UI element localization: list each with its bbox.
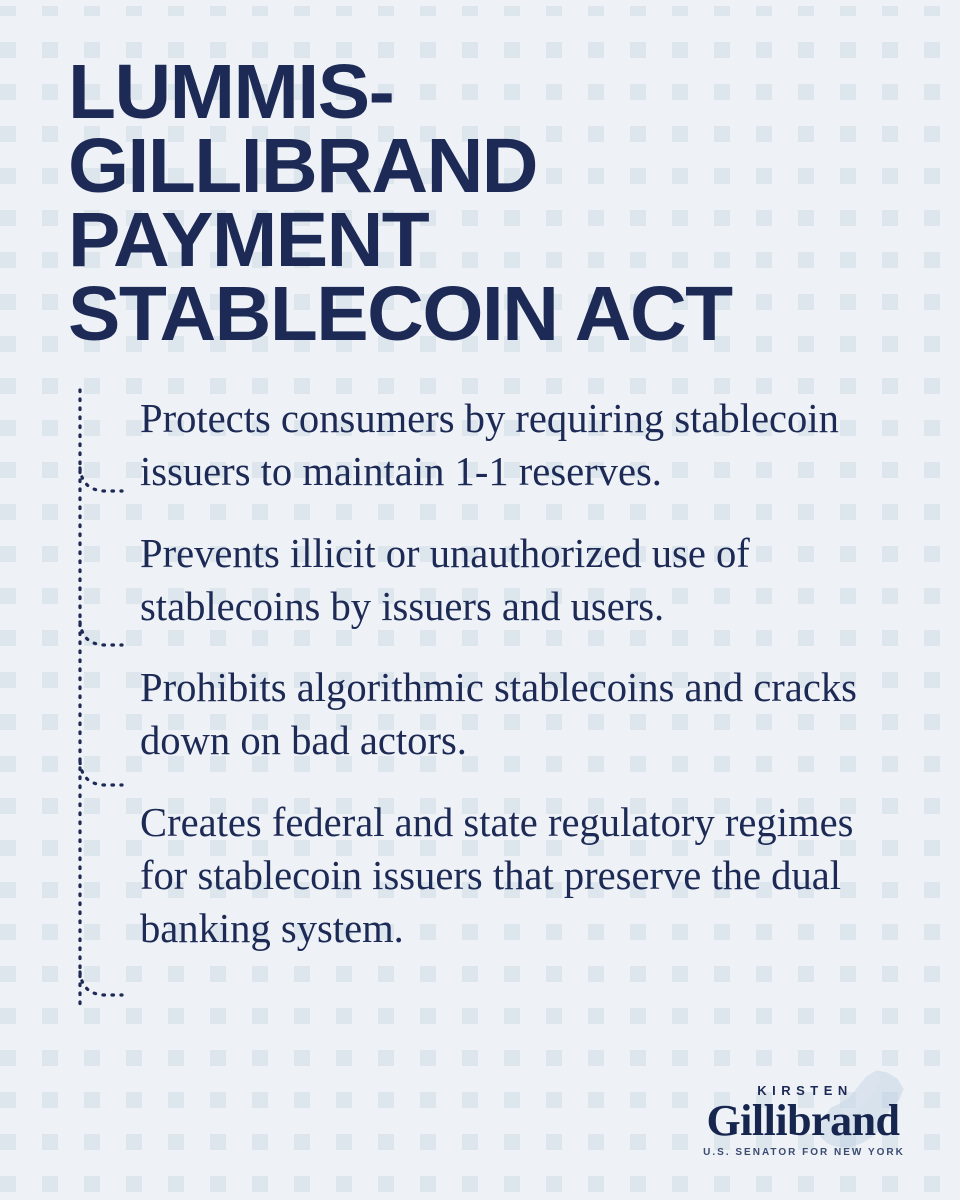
- bullet-text: Protects consumers by requiring stableco…: [140, 392, 904, 499]
- logo-text-group: KIRSTEN Gillibrand U.S. SENATOR FOR NEW …: [688, 1074, 918, 1158]
- logo-name: Gillibrand: [688, 1099, 918, 1143]
- list-item: Prevents illicit or unauthorized use of …: [72, 527, 912, 634]
- list-item: Protects consumers by requiring stableco…: [72, 392, 912, 499]
- title-line-2: GILLIBRAND: [68, 130, 925, 204]
- title-line-3: PAYMENT: [68, 204, 925, 278]
- connector-branch-4: [80, 972, 122, 995]
- list-item: Creates federal and state regulatory reg…: [72, 796, 912, 956]
- bullet-text: Prohibits algorithmic stablecoins and cr…: [140, 661, 904, 768]
- bullet-list: Protects consumers by requiring stableco…: [72, 392, 912, 956]
- bullet-text: Creates federal and state regulatory reg…: [140, 796, 904, 956]
- poster-graphic: LUMMIS- GILLIBRAND PAYMENT STABLECOIN AC…: [0, 0, 960, 1200]
- title-line-1: LUMMIS-: [68, 56, 925, 130]
- bullet-text: Prevents illicit or unauthorized use of …: [140, 527, 904, 634]
- page-title: LUMMIS- GILLIBRAND PAYMENT STABLECOIN AC…: [68, 56, 908, 352]
- list-item: Prohibits algorithmic stablecoins and cr…: [72, 661, 912, 768]
- gillibrand-logo: KIRSTEN Gillibrand U.S. SENATOR FOR NEW …: [688, 1074, 918, 1174]
- title-line-4: STABLECOIN ACT: [68, 278, 925, 352]
- logo-tagline: U.S. SENATOR FOR NEW YORK: [688, 1148, 918, 1158]
